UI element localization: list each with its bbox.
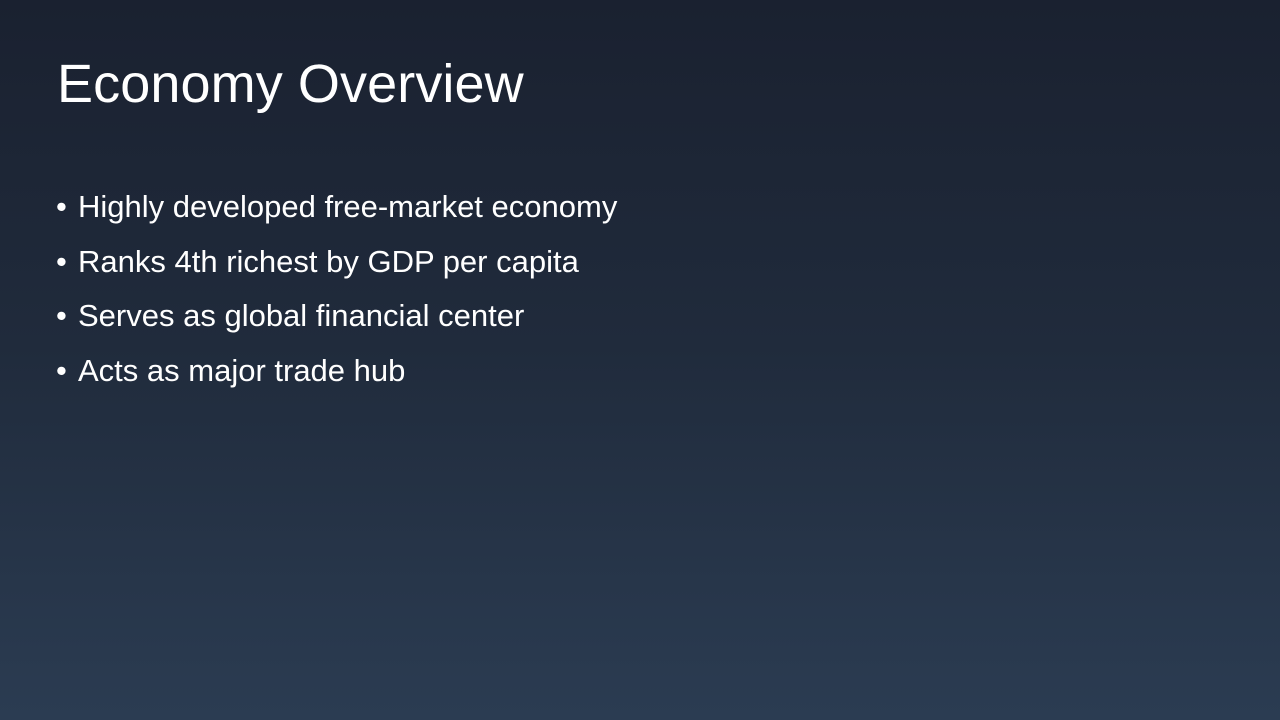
- bullet-point-icon: •: [56, 295, 78, 337]
- list-item: • Serves as global financial center: [56, 295, 1206, 350]
- bullet-point-icon: •: [56, 350, 78, 392]
- list-item: • Ranks 4th richest by GDP per capita: [56, 241, 1206, 296]
- list-item-label: Ranks 4th richest by GDP per capita: [78, 244, 579, 279]
- list-item-label: Acts as major trade hub: [78, 353, 405, 388]
- list-item-label: Serves as global financial center: [78, 298, 524, 333]
- bullet-point-icon: •: [56, 241, 78, 283]
- list-item-label: Highly developed free-market economy: [78, 189, 617, 224]
- page-title: Economy Overview: [57, 56, 524, 113]
- presentation-slide: Economy Overview • Highly developed free…: [0, 0, 1280, 720]
- bullet-point-icon: •: [56, 186, 78, 228]
- bullet-list: • Highly developed free-market economy •…: [56, 186, 1206, 404]
- list-item: • Acts as major trade hub: [56, 350, 1206, 405]
- list-item: • Highly developed free-market economy: [56, 186, 1206, 241]
